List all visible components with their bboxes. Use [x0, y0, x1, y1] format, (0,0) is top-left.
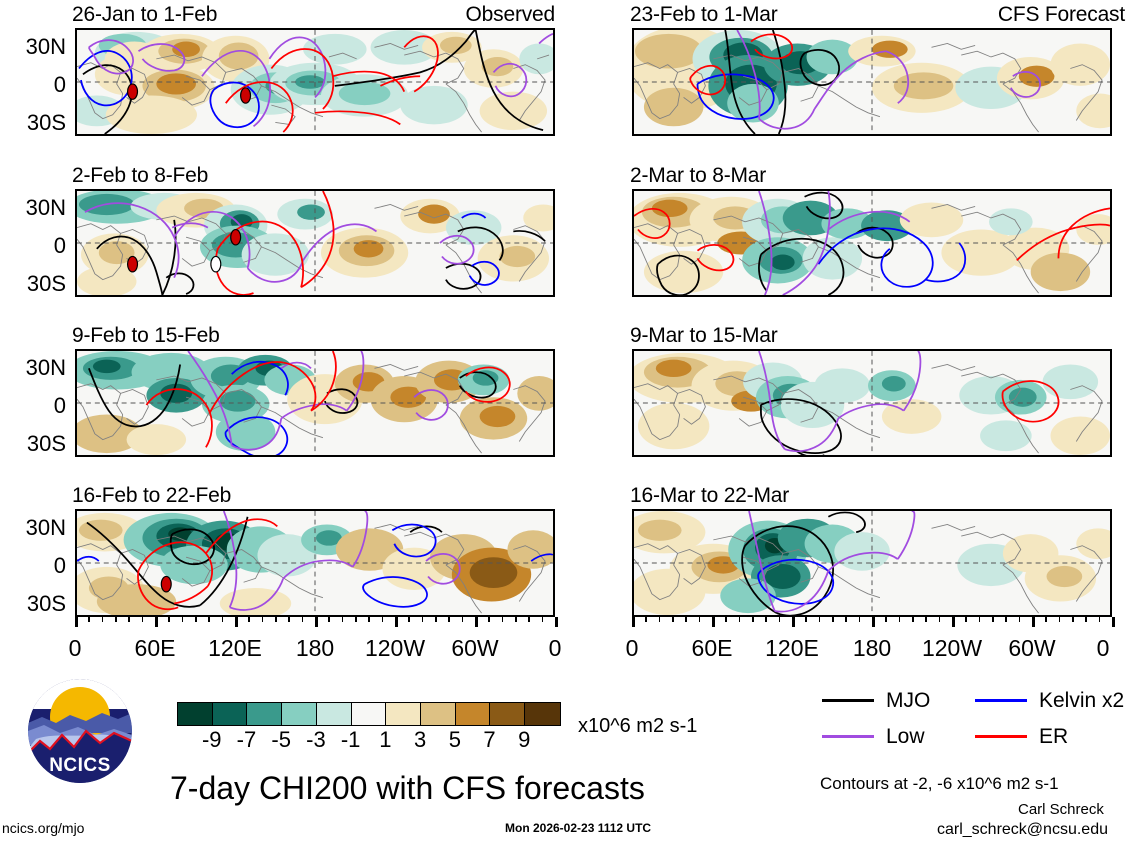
contour-note: Contours at -2, -6 x10^6 m2 s-1 [820, 775, 1059, 792]
panel-title: 16-Mar to 22-Mar [630, 485, 789, 506]
x-tick-minor [448, 617, 450, 622]
x-tick-minor [1019, 617, 1021, 622]
colorbar-swatch [317, 703, 352, 725]
colorbar-units: x10^6 m2 s-1 [578, 716, 697, 736]
colorbar-swatch [421, 703, 456, 725]
map-canvas [77, 351, 553, 455]
legend-label-er: ER [1039, 726, 1068, 747]
x-tick-label-180-left: 180 [275, 637, 355, 660]
x-tick-major [952, 617, 955, 627]
x-tick-minor [1085, 617, 1087, 622]
legend-label-mjo: MJO [886, 690, 930, 711]
x-tick-minor [382, 617, 384, 622]
x-tick-label-180-right: 180 [832, 637, 912, 660]
map-canvas [634, 30, 1110, 134]
x-tick-major [712, 617, 715, 627]
y-tick-label-30n-r0: 30N [0, 36, 66, 58]
map-plot-area[interactable] [632, 349, 1112, 457]
x-tick-major [1032, 617, 1035, 627]
x-tick-minor [435, 617, 437, 622]
colorbar-swatch [213, 703, 248, 725]
x-tick-minor [1072, 617, 1074, 622]
x-tick-minor [115, 617, 117, 622]
x-tick-minor [208, 617, 210, 622]
y-tick-label-0-r1: 0 [0, 235, 66, 257]
x-tick-label-60w-left: 60W [435, 637, 515, 660]
x-tick-label-120e-right: 120E [752, 637, 832, 660]
map-plot-area[interactable] [632, 509, 1112, 617]
x-tick-label-0-right-end: 0 [1072, 637, 1134, 660]
x-tick-label-0-left-end: 0 [515, 637, 595, 660]
x-tick-label-0-right: 0 [592, 637, 672, 660]
x-tick-minor [222, 617, 224, 622]
colorbar-swatch [247, 703, 282, 725]
x-tick-minor [542, 617, 544, 622]
x-tick-minor [1059, 617, 1061, 622]
x-tick-minor [845, 617, 847, 622]
author-name: Carl Schreck [1018, 803, 1104, 816]
x-tick-minor [462, 617, 464, 622]
x-tick-label-120w-left: 120W [355, 637, 435, 660]
legend-swatch-kelvin [975, 699, 1027, 702]
x-tick-major [395, 617, 398, 627]
x-tick-label-120e-left: 120E [195, 637, 275, 660]
x-tick-minor [899, 617, 901, 622]
map-plot-area[interactable] [632, 28, 1112, 136]
y-tick-label-0-r0: 0 [0, 74, 66, 96]
map-plot-area[interactable] [75, 509, 555, 617]
x-tick-minor [88, 617, 90, 622]
legend-swatch-low [822, 735, 874, 738]
x-tick-minor [422, 617, 424, 622]
x-tick-minor [725, 617, 727, 622]
panel-title: 9-Feb to 15-Feb [72, 325, 220, 346]
y-tick-label-30s-r1: 30S [0, 273, 66, 295]
x-tick-minor [659, 617, 661, 622]
x-tick-minor [408, 617, 410, 622]
colorbar-swatch [456, 703, 491, 725]
map-canvas [77, 511, 553, 615]
x-tick-major [632, 617, 635, 627]
x-tick-minor [368, 617, 370, 622]
x-tick-minor [102, 617, 104, 622]
x-tick-minor [779, 617, 781, 622]
x-tick-minor [1005, 617, 1007, 622]
colorbar-swatch [282, 703, 317, 725]
x-tick-minor [128, 617, 130, 622]
ncics-logo-graphic: NCICS [28, 679, 132, 783]
x-tick-minor [739, 617, 741, 622]
x-tick-minor [528, 617, 530, 622]
x-axis-ticks [75, 617, 555, 627]
x-tick-label-60e-right: 60E [672, 637, 752, 660]
map-canvas [634, 351, 1110, 455]
x-tick-minor [342, 617, 344, 622]
x-tick-minor [939, 617, 941, 622]
legend-swatch-er [975, 735, 1027, 738]
y-tick-label-30s-r2: 30S [0, 433, 66, 455]
x-tick-minor [302, 617, 304, 622]
panel-title: 2-Feb to 8-Feb [72, 165, 208, 186]
panel-title: 2-Mar to 8-Mar [630, 165, 766, 186]
map-plot-area[interactable] [632, 189, 1112, 297]
map-canvas [634, 511, 1110, 615]
x-tick-minor [672, 617, 674, 622]
x-tick-minor [925, 617, 927, 622]
x-tick-minor [992, 617, 994, 622]
x-tick-minor [979, 617, 981, 622]
colorbar-swatch [386, 703, 421, 725]
x-tick-minor [832, 617, 834, 622]
legend-swatch-mjo [822, 699, 874, 702]
storm-markers [161, 576, 171, 591]
x-tick-label-60w-right: 60W [992, 637, 1072, 660]
x-tick-minor [885, 617, 887, 622]
x-tick-minor [355, 617, 357, 622]
x-tick-minor [515, 617, 517, 622]
x-tick-minor [182, 617, 184, 622]
site-url[interactable]: ncics.org/mjo [2, 822, 84, 835]
author-email[interactable]: carl_schreck@ncsu.edu [937, 823, 1108, 836]
x-tick-minor [699, 617, 701, 622]
y-tick-label-30n-r2: 30N [0, 357, 66, 379]
x-tick-minor [859, 617, 861, 622]
map-canvas [634, 191, 1110, 295]
x-tick-minor [752, 617, 754, 622]
x-tick-label-120w-right: 120W [912, 637, 992, 660]
panel-title: 26-Jan to 1-Feb [72, 4, 217, 25]
x-tick-minor [262, 617, 264, 622]
x-tick-label-0-left: 0 [35, 637, 115, 660]
legend-label-kelvin: Kelvin x2 [1039, 690, 1124, 711]
y-tick-label-30s-r0: 30S [0, 112, 66, 134]
map-plot-area[interactable] [75, 28, 555, 136]
x-tick-minor [488, 617, 490, 622]
map-canvas [77, 30, 553, 134]
legend-label-low: Low [886, 726, 925, 747]
map-plot-area[interactable] [75, 349, 555, 457]
colorbar-swatch [490, 703, 525, 725]
x-tick-minor [765, 617, 767, 622]
column-header-observed: Observed [430, 4, 555, 25]
y-tick-label-0-r3: 0 [0, 555, 66, 577]
x-tick-major [155, 617, 158, 627]
x-tick-minor [645, 617, 647, 622]
colorbar-swatch [178, 703, 213, 725]
ncics-logo: NCICS [28, 679, 132, 783]
x-tick-minor [328, 617, 330, 622]
panel-title: 23-Feb to 1-Mar [630, 4, 778, 25]
colorbar-swatch [352, 703, 387, 725]
y-tick-label-0-r2: 0 [0, 395, 66, 417]
x-tick-minor [168, 617, 170, 622]
x-tick-major [555, 617, 558, 627]
x-tick-major [235, 617, 238, 627]
colorbar-tick-label: 9 [504, 729, 544, 751]
x-tick-minor [965, 617, 967, 622]
x-tick-major [872, 617, 875, 627]
x-tick-major [315, 617, 318, 627]
panel-title: 9-Mar to 15-Mar [630, 325, 778, 346]
x-tick-minor [195, 617, 197, 622]
x-tick-minor [248, 617, 250, 622]
main-title: 7-day CHI200 with CFS forecasts [170, 772, 645, 804]
x-tick-major [475, 617, 478, 627]
y-tick-label-30n-r3: 30N [0, 517, 66, 539]
x-tick-label-60e-left: 60E [115, 637, 195, 660]
x-tick-major [75, 617, 78, 627]
x-tick-minor [502, 617, 504, 622]
y-tick-label-30s-r3: 30S [0, 593, 66, 615]
panel-title: 16-Feb to 22-Feb [72, 485, 231, 506]
x-tick-major [792, 617, 795, 627]
x-tick-minor [275, 617, 277, 622]
colorbar-swatch [525, 703, 560, 725]
colorbar [177, 702, 561, 726]
x-tick-minor [685, 617, 687, 622]
x-tick-minor [288, 617, 290, 622]
svg-text:NCICS: NCICS [49, 755, 111, 776]
y-tick-label-30n-r1: 30N [0, 197, 66, 219]
map-canvas [77, 191, 553, 295]
column-header-forecast: CFS Forecast [965, 4, 1125, 25]
render-timestamp: Mon 2026-02-23 1112 UTC [505, 822, 651, 835]
x-tick-minor [1045, 617, 1047, 622]
x-tick-minor [912, 617, 914, 622]
x-tick-minor [819, 617, 821, 622]
x-tick-minor [1099, 617, 1101, 622]
x-tick-minor [142, 617, 144, 622]
x-tick-major [1112, 617, 1115, 627]
x-axis-ticks [632, 617, 1112, 627]
map-plot-area[interactable] [75, 189, 555, 297]
x-tick-minor [805, 617, 807, 622]
